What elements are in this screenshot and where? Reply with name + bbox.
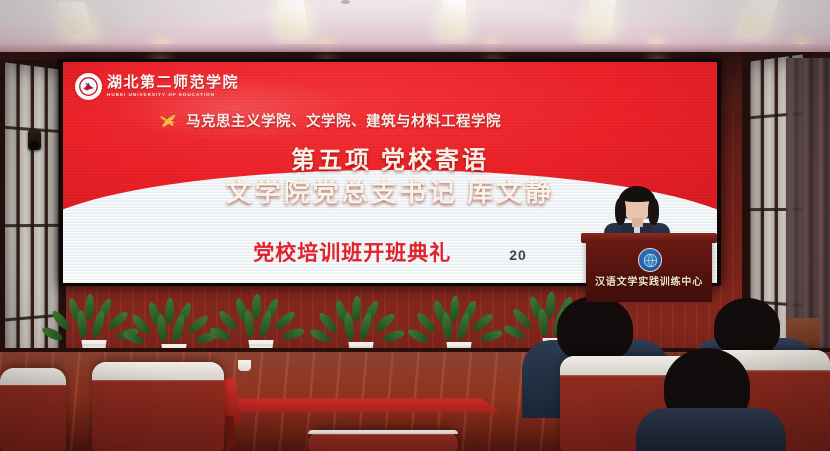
speaking-podium: 汉语文学实践训练中心 bbox=[586, 240, 712, 302]
slide-title-line-1: 第五项 党校寄语 bbox=[63, 140, 717, 175]
ceiling-troffer-light bbox=[58, 2, 95, 35]
audience-member-head bbox=[714, 298, 780, 356]
paper-cup bbox=[238, 360, 251, 371]
organizations-text: 马克思主义学院、文学院、建筑与材料工程学院 bbox=[186, 110, 501, 131]
ceiling-troffer-light bbox=[739, 0, 778, 34]
table-leg bbox=[226, 416, 234, 448]
auditorium-chair bbox=[92, 362, 224, 451]
globe-badge-icon bbox=[638, 248, 662, 272]
audience-member-shoulders bbox=[636, 408, 786, 451]
ceremony-year: 20 bbox=[509, 247, 527, 263]
lecture-hall-photo: 湖北第二师范学院 HUBEI UNIVERSITY OF EDUCATION 马… bbox=[0, 0, 830, 451]
university-name-cn: 湖北第二师范学院 bbox=[107, 76, 239, 91]
ceremony-title: 党校培训班开班典礼 bbox=[253, 237, 451, 267]
ceiling-troffer-light bbox=[277, 0, 309, 36]
university-name-en: HUBEI UNIVERSITY OF EDUCATION bbox=[107, 93, 239, 98]
organizations-row: 马克思主义学院、文学院、建筑与材料工程学院 bbox=[159, 110, 501, 131]
ceiling-troffer-light bbox=[584, 0, 616, 36]
podium-label: 汉语文学实践训练中心 bbox=[586, 273, 712, 288]
wall-speaker-icon bbox=[28, 130, 41, 150]
smoke-detector bbox=[341, 0, 350, 4]
auditorium-chair bbox=[308, 430, 458, 451]
audience-member-head bbox=[557, 296, 633, 362]
left-wall-slat-panel bbox=[5, 62, 60, 369]
ccp-hammer-sickle-icon bbox=[159, 113, 178, 129]
ceiling-troffer-light bbox=[442, 0, 465, 36]
auditorium-chair bbox=[0, 368, 66, 451]
university-seal-icon bbox=[75, 73, 102, 100]
university-logo: 湖北第二师范学院 HUBEI UNIVERSITY OF EDUCATION bbox=[75, 73, 239, 100]
